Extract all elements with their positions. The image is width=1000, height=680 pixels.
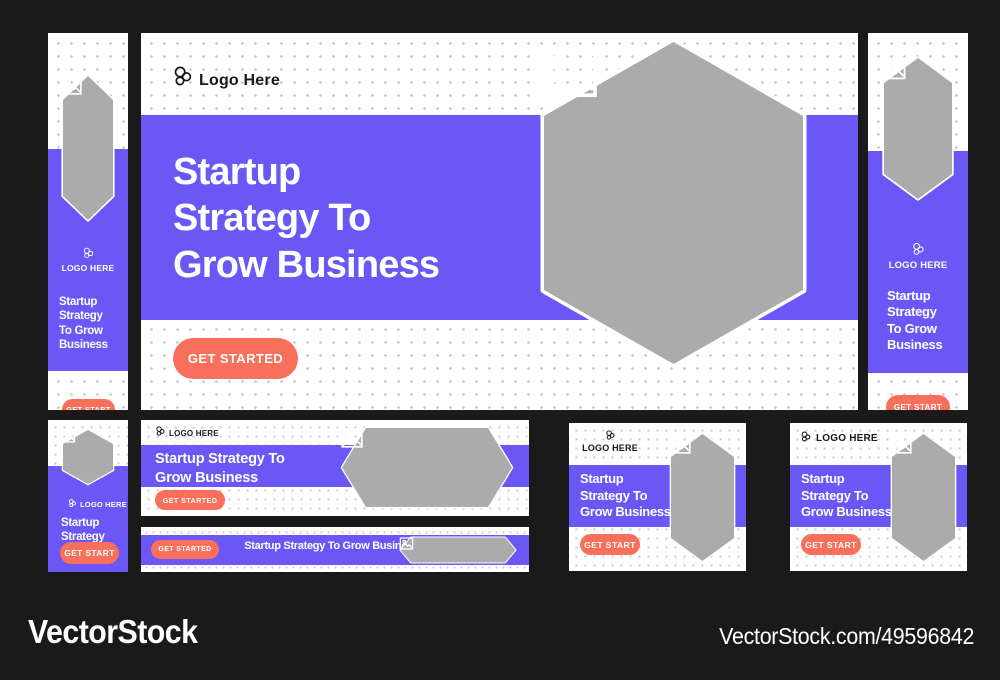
image-placeholder-hexagon[interactable]: [340, 426, 514, 509]
logo-lockup[interactable]: LOGO HERE: [799, 430, 878, 444]
two-petal-logo-icon: [910, 241, 927, 258]
logo-lockup[interactable]: Logo Here: [170, 63, 280, 90]
logo-text: LOGO HERE: [169, 429, 219, 438]
logo-text: LOGO HERE: [80, 500, 127, 509]
logo-lockup[interactable]: LOGO HERE: [868, 241, 968, 271]
two-petal-logo-icon: [81, 246, 96, 261]
two-petal-logo-icon: [604, 429, 617, 442]
headline: Startup Strategy To Grow Business: [173, 149, 593, 288]
image-placeholder-hexagon[interactable]: [535, 38, 812, 368]
image-placeholder-icon: [535, 38, 601, 104]
image-placeholder-hexagon[interactable]: [60, 74, 116, 222]
watermark-url: VectorStock.com/49596842: [719, 623, 974, 650]
logo-lockup[interactable]: LOGO HERE: [576, 429, 644, 453]
thin-strip-banner[interactable]: GET STARTED Startup Strategy To Grow Bus…: [141, 527, 529, 572]
two-petal-logo-icon: [799, 430, 813, 444]
small-vertical-banner[interactable]: LOGO HERE Startup Strategy GET START: [48, 420, 128, 572]
watermark-brand: VectorStock: [28, 613, 197, 651]
image-placeholder-icon: [880, 55, 907, 82]
poster-canvas: LOGO HERE Startup Strategy To Grow Busin…: [0, 0, 1000, 680]
logo-text: LOGO HERE: [582, 443, 638, 453]
image-placeholder-icon: [60, 74, 83, 97]
wide-horizontal-banner[interactable]: LOGO HERE Startup Strategy To Grow Busin…: [141, 420, 529, 516]
logo-text: LOGO HERE: [889, 260, 948, 271]
image-placeholder-icon: [60, 428, 76, 444]
image-placeholder-icon: [340, 426, 364, 450]
logo-text: LOGO HERE: [816, 433, 878, 444]
cta-button[interactable]: GET START: [60, 542, 119, 564]
two-petal-logo-icon: [154, 425, 167, 438]
image-placeholder-icon: [668, 432, 692, 456]
cta-button[interactable]: GET START: [580, 534, 640, 555]
vertical-skyscraper-banner-left[interactable]: LOGO HERE Startup Strategy To Grow Busin…: [48, 33, 128, 410]
cta-button[interactable]: GET START: [886, 395, 950, 410]
headline: Startup Strategy To Grow Business: [887, 288, 967, 354]
headline: Startup Strategy To Grow Business: [59, 295, 127, 352]
cta-button[interactable]: GET START: [801, 534, 861, 555]
logo-text: LOGO HERE: [62, 263, 115, 273]
logo-lockup[interactable]: LOGO HERE: [48, 246, 128, 273]
square-banner-right[interactable]: LOGO HERE Startup Strategy To Grow Busin…: [790, 423, 967, 571]
square-banner-center[interactable]: LOGO HERE Startup Strategy To Grow Busin…: [569, 423, 746, 571]
headline: Startup Strategy: [61, 516, 127, 545]
cta-button[interactable]: GET START: [62, 399, 115, 410]
image-placeholder-hexagon[interactable]: [60, 428, 116, 486]
logo-text: Logo Here: [199, 72, 280, 90]
cta-button[interactable]: GET STARTED: [151, 540, 219, 559]
logo-lockup[interactable]: LOGO HERE: [67, 498, 127, 509]
two-petal-logo-icon: [67, 498, 78, 509]
image-placeholder-hexagon[interactable]: [880, 55, 956, 202]
image-placeholder-icon: [889, 432, 913, 456]
vertical-skyscraper-banner-right[interactable]: LOGO HERE Startup Strategy To Grow Busin…: [868, 33, 968, 410]
cta-button[interactable]: GET STARTED: [173, 338, 298, 379]
logo-lockup[interactable]: LOGO HERE: [154, 425, 219, 438]
two-petal-logo-icon: [170, 64, 196, 90]
large-hero-banner[interactable]: Logo Here Startup Strategy To Grow Busin…: [141, 33, 858, 410]
image-placeholder-icon: [399, 536, 414, 551]
image-placeholder-hexagon[interactable]: [399, 536, 517, 564]
image-placeholder-hexagon[interactable]: [889, 432, 958, 563]
cta-button[interactable]: GET STARTED: [155, 490, 225, 510]
image-placeholder-hexagon[interactable]: [668, 432, 737, 563]
